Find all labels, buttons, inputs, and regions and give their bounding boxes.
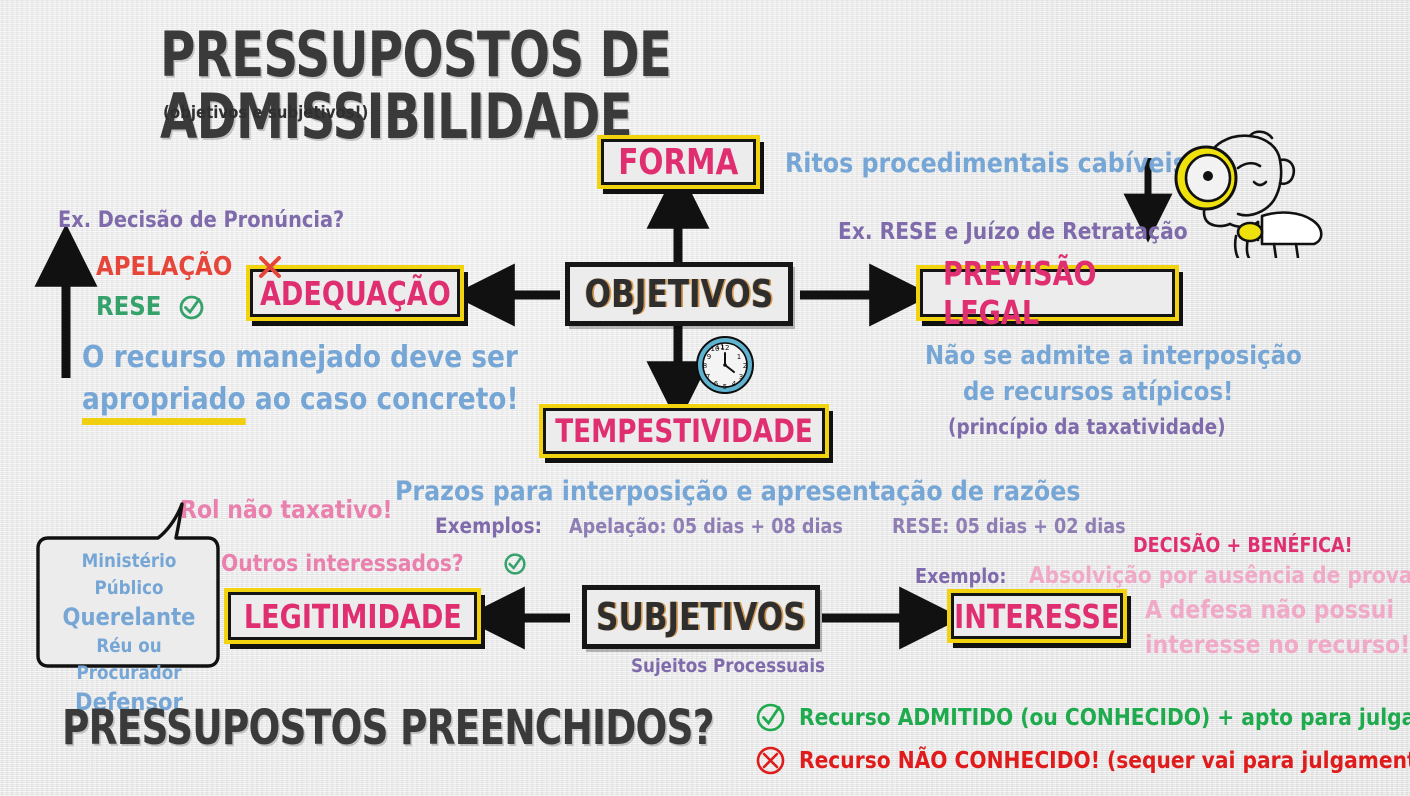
svg-text:9: 9 [707,353,711,361]
node-interesse[interactable]: INTERESSE [947,589,1127,643]
legend-row-admitted: Recurso ADMITIDO (ou CONHECIDO) + apto p… [755,702,1410,733]
adequacao-rule-line1: O recurso manejado deve ser [82,340,518,375]
examples-label: Exemplos: [435,514,542,538]
legend-label-not-known: Recurso NÃO CONHECIDO! (sequer vai para … [799,748,1410,774]
check-circle-icon [178,294,205,321]
example-rese: RESE: 05 dias + 02 dias [892,514,1126,538]
page-title: PRESSUPOSTOS DE ADMISSIBILIDADE [160,24,1135,148]
svg-text:4: 4 [732,380,737,388]
previsao-note-line3: (princípio da taxatividade) [948,415,1226,439]
node-objetivos-label: OBJETIVOS [585,272,773,316]
legitimidade-bubble-list: Ministério Público Querelante Réu ou Pro… [40,548,218,718]
check-circle-icon [755,702,786,733]
legitimidade-others-note: Outros interessados? [221,551,527,577]
adequacao-option-no: APELAÇÃO [96,252,283,282]
interesse-headline: DECISÃO + BENÉFICA! [1133,533,1353,557]
node-forma-label: FORMA [618,142,738,183]
interesse-example-row: Exemplo: Absolvição por ausência de prov… [915,563,1410,589]
tempestividade-examples-row: Exemplos: Apelação: 05 dias + 08 dias RE… [435,514,1157,538]
node-legitimidade[interactable]: LEGITIMIDADE [224,588,481,644]
svg-text:6: 6 [714,380,719,388]
adequacao-option-no-label: APELAÇÃO [96,252,232,282]
node-previsao-legal-label: PREVISÃO LEGAL [943,254,1152,332]
svg-text:3: 3 [739,373,743,381]
bubble-item: Ministério Público [51,548,208,602]
legitimidade-others-label: Outros interessados? [221,551,464,577]
interesse-example-value: Absolvição por ausência de provas [1029,563,1410,589]
adequacao-question: Ex. Decisão de Pronúncia? [58,208,344,233]
node-subjetivos[interactable]: SUBJETIVOS [582,585,820,649]
adequacao-rule-rest: ao caso concreto! [246,382,519,417]
node-tempestividade-label: TEMPESTIVIDADE [555,412,813,450]
node-legitimidade-label: LEGITIMIDADE [244,597,462,636]
bubble-item: Querelante [51,602,208,633]
node-forma[interactable]: FORMA [597,135,760,189]
legend-row-not-known: Recurso NÃO CONHECIDO! (sequer vai para … [755,745,1410,776]
previsao-note-line1: Não se admite a interposição [925,341,1302,371]
adequacao-option-yes: RESE [96,292,205,322]
node-subjetivos-label: SUBJETIVOS [596,595,806,639]
forma-note-line2: Ex. RESE e Juízo de Retratação [838,219,1188,245]
svg-text:1: 1 [737,353,741,361]
svg-text:8: 8 [703,362,707,370]
check-circle-icon [503,552,527,576]
node-interesse-label: INTERESSE [954,597,1119,636]
page-subtitle: (objetivos e subjetivos!) [163,103,368,123]
adequacao-option-yes-label: RESE [96,292,161,322]
node-tempestividade[interactable]: TEMPESTIVIDADE [539,404,829,458]
node-objetivos[interactable]: OBJETIVOS [565,262,793,326]
svg-text:5: 5 [723,383,727,391]
bubble-item: Réu ou Procurador [51,633,208,687]
analog-clock-icon: 1212 345 678 91011 [694,334,756,396]
subjetivos-caption: Sujeitos Processuais [631,655,825,677]
forma-note-line1: Ritos procedimentais cabíveis [785,148,1187,179]
node-adequacao-label: ADEQUAÇÃO [260,274,451,313]
adequacao-rule-line2: apropriado ao caso concreto! [82,382,518,425]
svg-text:11: 11 [716,343,725,351]
interesse-conclusion-line1: A defesa não possui [1145,595,1394,624]
example-apelacao: Apelação: 05 dias + 08 dias [569,514,843,538]
x-mark-icon [257,254,283,280]
legend-label-admitted: Recurso ADMITIDO (ou CONHECIDO) + apto p… [799,705,1410,731]
person-with-magnifier-doodle [1150,128,1335,258]
footer-question: PRESSUPOSTOS PREENCHIDOS? [62,704,714,752]
tempestividade-note-line1: Prazos para interposição e apresentação … [395,476,1080,507]
interesse-conclusion-line2: interesse no recurso! [1145,630,1410,659]
adequacao-rule-emphasis: apropriado [82,382,246,425]
interesse-example-label: Exemplo: [915,564,1006,588]
previsao-note-line2: de recursos atípicos! [963,377,1234,407]
svg-text:2: 2 [743,362,747,370]
x-circle-icon [755,745,786,776]
svg-text:7: 7 [706,373,710,381]
node-previsao-legal[interactable]: PREVISÃO LEGAL [916,265,1179,321]
